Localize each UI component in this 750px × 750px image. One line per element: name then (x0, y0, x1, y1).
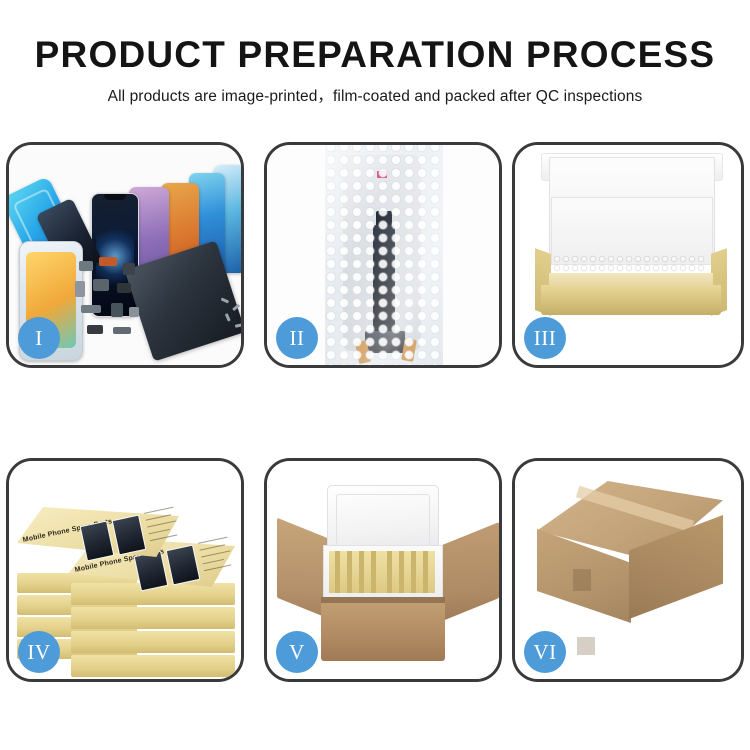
carton-front-panel (321, 597, 445, 661)
screw (225, 313, 231, 321)
box-edge (359, 551, 364, 593)
screw (221, 297, 229, 303)
spec-line (146, 514, 172, 521)
spec-line (147, 520, 177, 528)
box-spec-lines (198, 534, 239, 576)
spare-part (129, 307, 139, 317)
spare-part (75, 281, 85, 297)
stacked-box (71, 631, 235, 653)
stacked-box (71, 607, 235, 629)
small-spare-parts-group (73, 257, 143, 353)
spec-line (150, 534, 178, 541)
plastic-sheen (325, 145, 443, 365)
step-panel-5: V (264, 458, 502, 682)
carton-seam-upper (573, 569, 591, 591)
step-panel-4: Mobile Phone Spare Parts Mobile Phone Sp… (6, 458, 244, 682)
step-panel-2: II (264, 142, 502, 368)
spare-part (113, 327, 131, 334)
step-badge-6: VI (524, 631, 566, 673)
spec-line (202, 559, 224, 565)
screw (232, 304, 240, 311)
box-edge (371, 551, 376, 593)
step-badge-2: II (276, 317, 318, 359)
spare-part (79, 261, 93, 271)
box-edge (335, 551, 340, 593)
bubble-wrap-bag (325, 145, 443, 365)
step-badge-5: V (276, 631, 318, 673)
screws-group (221, 297, 241, 337)
box-edge (411, 551, 416, 593)
box-edge (423, 551, 428, 593)
box-spec-lines (144, 504, 185, 546)
spare-part (93, 279, 109, 291)
spare-part (111, 303, 123, 317)
spare-part (99, 257, 117, 266)
packed-yellow-boxes (329, 551, 435, 593)
spec-line (144, 507, 174, 515)
step-badge-1: I (18, 317, 60, 359)
process-steps-grid: I II (0, 0, 750, 750)
spec-line (148, 529, 170, 535)
step-badge-4: IV (18, 631, 60, 673)
box-edge (387, 551, 392, 593)
box-edge (347, 551, 352, 593)
box-edge (399, 551, 404, 593)
stacked-box (71, 655, 235, 677)
step-panel-6: VI (512, 458, 744, 682)
screw (235, 323, 241, 327)
step-panel-1: I (6, 142, 244, 368)
step-panel-3: III (512, 142, 744, 368)
carton-seam-lower (577, 637, 595, 655)
spare-part (81, 305, 101, 313)
spare-part (87, 325, 103, 334)
spec-line (201, 550, 231, 558)
step-badge-3: III (524, 317, 566, 359)
spec-line (204, 564, 232, 571)
spec-line (198, 537, 228, 545)
spec-line (200, 544, 226, 551)
box-tray-front-panel (541, 285, 721, 315)
spare-part (123, 263, 135, 275)
spare-part (117, 283, 131, 293)
